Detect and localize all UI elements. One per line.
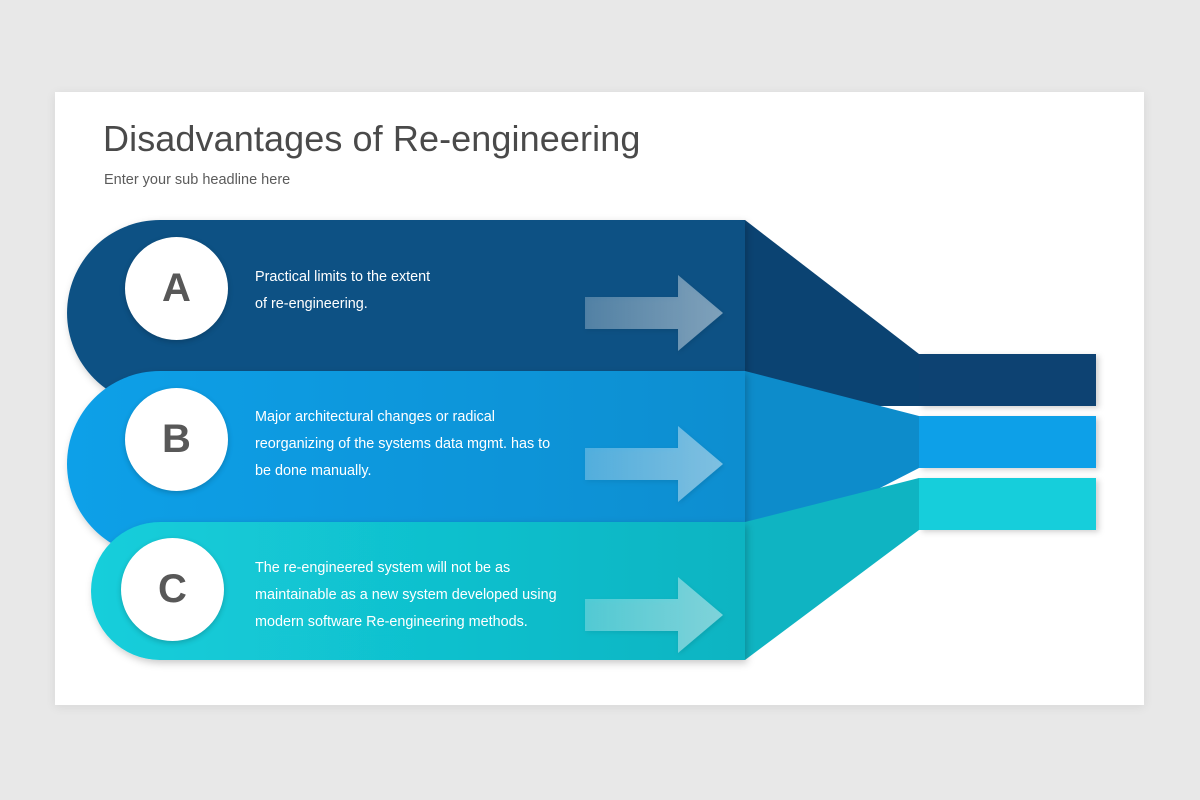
funnel-diagram: A B C Practical limits to the extent of … xyxy=(55,92,1144,705)
slide-card: Disadvantages of Re-engineering Enter yo… xyxy=(55,92,1144,705)
funnel-strip-c xyxy=(919,478,1096,530)
badge-b-letter: B xyxy=(162,419,191,459)
badge-a[interactable]: A xyxy=(125,237,228,340)
badge-c[interactable]: C xyxy=(121,538,224,641)
badge-b[interactable]: B xyxy=(125,388,228,491)
funnel-graphic xyxy=(55,92,1144,705)
row-c-text: The re-engineered system will not be as … xyxy=(255,555,595,636)
row-b-text: Major architectural changes or radical r… xyxy=(255,404,595,485)
badge-a-letter: A xyxy=(162,268,191,308)
row-a-text: Practical limits to the extent of re-eng… xyxy=(255,264,585,318)
funnel-strip-a xyxy=(919,354,1096,406)
funnel-strip-b xyxy=(919,416,1096,468)
badge-c-letter: C xyxy=(158,569,187,609)
